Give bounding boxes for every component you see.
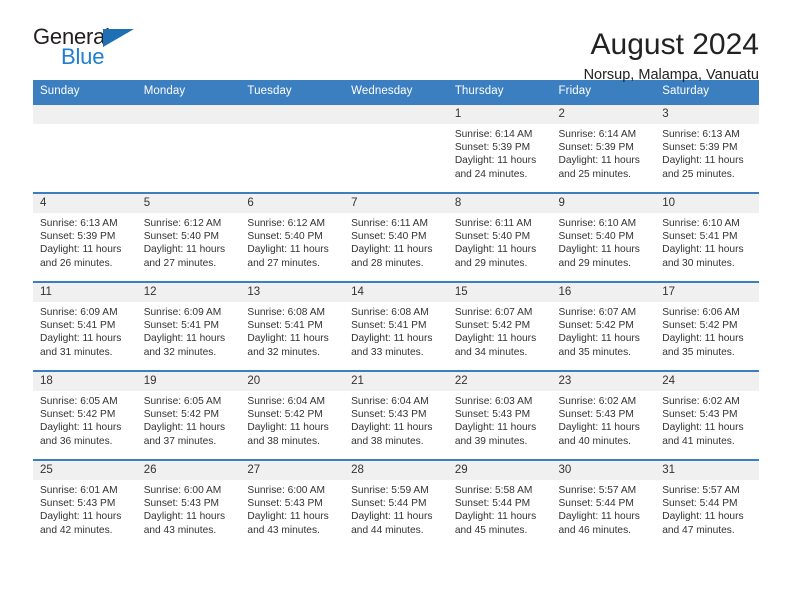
sunrise-text: Sunrise: 6:00 AM: [247, 484, 338, 497]
day-details: Sunrise: 5:58 AMSunset: 5:44 PMDaylight:…: [448, 480, 552, 537]
sunset-text: Sunset: 5:43 PM: [144, 497, 235, 510]
daylight-text-line2: and 29 minutes.: [559, 257, 650, 270]
sunrise-text: Sunrise: 5:58 AM: [455, 484, 546, 497]
daylight-text-line2: and 28 minutes.: [351, 257, 442, 270]
day-number: 20: [240, 372, 344, 391]
day-number: [344, 105, 448, 124]
sunset-text: Sunset: 5:41 PM: [351, 319, 442, 332]
daylight-text-line2: and 44 minutes.: [351, 524, 442, 537]
calendar-day-cell[interactable]: 11Sunrise: 6:09 AMSunset: 5:41 PMDayligh…: [33, 282, 137, 371]
day-number: 27: [240, 461, 344, 480]
day-details: Sunrise: 6:05 AMSunset: 5:42 PMDaylight:…: [137, 391, 241, 448]
day-details: Sunrise: 6:11 AMSunset: 5:40 PMDaylight:…: [344, 213, 448, 270]
daylight-text-line2: and 38 minutes.: [351, 435, 442, 448]
calendar-day-cell[interactable]: 4Sunrise: 6:13 AMSunset: 5:39 PMDaylight…: [33, 193, 137, 282]
calendar-cell-empty: [33, 104, 137, 193]
daylight-text-line1: Daylight: 11 hours: [559, 332, 650, 345]
weekday-header-wednesday: Wednesday: [344, 80, 448, 104]
sunrise-text: Sunrise: 6:08 AM: [247, 306, 338, 319]
calendar-week-row: 4Sunrise: 6:13 AMSunset: 5:39 PMDaylight…: [33, 193, 759, 282]
calendar-week-row: 25Sunrise: 6:01 AMSunset: 5:43 PMDayligh…: [33, 460, 759, 549]
daylight-text-line1: Daylight: 11 hours: [455, 510, 546, 523]
day-details: Sunrise: 6:00 AMSunset: 5:43 PMDaylight:…: [240, 480, 344, 537]
daylight-text-line1: Daylight: 11 hours: [247, 421, 338, 434]
sunrise-text: Sunrise: 6:09 AM: [144, 306, 235, 319]
daylight-text-line2: and 25 minutes.: [559, 168, 650, 181]
sunrise-text: Sunrise: 6:14 AM: [455, 128, 546, 141]
calendar-week-row: 11Sunrise: 6:09 AMSunset: 5:41 PMDayligh…: [33, 282, 759, 371]
daylight-text-line1: Daylight: 11 hours: [40, 243, 131, 256]
sunset-text: Sunset: 5:40 PM: [144, 230, 235, 243]
day-details: Sunrise: 6:09 AMSunset: 5:41 PMDaylight:…: [137, 302, 241, 359]
calendar-day-cell[interactable]: 17Sunrise: 6:06 AMSunset: 5:42 PMDayligh…: [655, 282, 759, 371]
day-details: Sunrise: 6:09 AMSunset: 5:41 PMDaylight:…: [33, 302, 137, 359]
day-number: [137, 105, 241, 124]
calendar-day-cell[interactable]: 15Sunrise: 6:07 AMSunset: 5:42 PMDayligh…: [448, 282, 552, 371]
calendar-day-cell[interactable]: 1Sunrise: 6:14 AMSunset: 5:39 PMDaylight…: [448, 104, 552, 193]
day-details: Sunrise: 5:57 AMSunset: 5:44 PMDaylight:…: [655, 480, 759, 537]
daylight-text-line1: Daylight: 11 hours: [662, 243, 753, 256]
day-number: 9: [552, 194, 656, 213]
day-number: 4: [33, 194, 137, 213]
daylight-text-line2: and 46 minutes.: [559, 524, 650, 537]
day-details: Sunrise: 6:07 AMSunset: 5:42 PMDaylight:…: [448, 302, 552, 359]
calendar-day-cell[interactable]: 29Sunrise: 5:58 AMSunset: 5:44 PMDayligh…: [448, 460, 552, 549]
day-number: 11: [33, 283, 137, 302]
daylight-text-line1: Daylight: 11 hours: [455, 154, 546, 167]
sunrise-text: Sunrise: 5:57 AM: [559, 484, 650, 497]
day-number: 24: [655, 372, 759, 391]
sunset-text: Sunset: 5:44 PM: [351, 497, 442, 510]
calendar-day-cell[interactable]: 10Sunrise: 6:10 AMSunset: 5:41 PMDayligh…: [655, 193, 759, 282]
calendar-day-cell[interactable]: 18Sunrise: 6:05 AMSunset: 5:42 PMDayligh…: [33, 371, 137, 460]
daylight-text-line1: Daylight: 11 hours: [144, 421, 235, 434]
daylight-text-line1: Daylight: 11 hours: [662, 332, 753, 345]
daylight-text-line1: Daylight: 11 hours: [351, 510, 442, 523]
daylight-text-line1: Daylight: 11 hours: [455, 332, 546, 345]
general-blue-logo[interactable]: General Blue: [33, 26, 153, 74]
sunrise-text: Sunrise: 6:09 AM: [40, 306, 131, 319]
sunrise-text: Sunrise: 6:14 AM: [559, 128, 650, 141]
sunrise-text: Sunrise: 6:04 AM: [247, 395, 338, 408]
daylight-text-line2: and 34 minutes.: [455, 346, 546, 359]
day-number: 30: [552, 461, 656, 480]
daylight-text-line2: and 30 minutes.: [662, 257, 753, 270]
day-number: 18: [33, 372, 137, 391]
daylight-text-line1: Daylight: 11 hours: [455, 243, 546, 256]
sunset-text: Sunset: 5:41 PM: [40, 319, 131, 332]
sunset-text: Sunset: 5:43 PM: [559, 408, 650, 421]
daylight-text-line1: Daylight: 11 hours: [559, 421, 650, 434]
daylight-text-line2: and 31 minutes.: [40, 346, 131, 359]
sunset-text: Sunset: 5:39 PM: [455, 141, 546, 154]
daylight-text-line1: Daylight: 11 hours: [559, 243, 650, 256]
day-details: Sunrise: 6:12 AMSunset: 5:40 PMDaylight:…: [137, 213, 241, 270]
calendar-table: Sunday Monday Tuesday Wednesday Thursday…: [33, 80, 759, 549]
day-details: Sunrise: 5:57 AMSunset: 5:44 PMDaylight:…: [552, 480, 656, 537]
daylight-text-line1: Daylight: 11 hours: [144, 243, 235, 256]
day-details: Sunrise: 6:13 AMSunset: 5:39 PMDaylight:…: [33, 213, 137, 270]
daylight-text-line2: and 27 minutes.: [247, 257, 338, 270]
daylight-text-line2: and 42 minutes.: [40, 524, 131, 537]
day-number: 14: [344, 283, 448, 302]
calendar-body: 1Sunrise: 6:14 AMSunset: 5:39 PMDaylight…: [33, 104, 759, 549]
calendar-week-row: 18Sunrise: 6:05 AMSunset: 5:42 PMDayligh…: [33, 371, 759, 460]
calendar-day-cell[interactable]: 31Sunrise: 5:57 AMSunset: 5:44 PMDayligh…: [655, 460, 759, 549]
daylight-text-line2: and 24 minutes.: [455, 168, 546, 181]
day-details: Sunrise: 6:04 AMSunset: 5:43 PMDaylight:…: [344, 391, 448, 448]
day-number: 23: [552, 372, 656, 391]
day-number: 22: [448, 372, 552, 391]
daylight-text-line2: and 27 minutes.: [144, 257, 235, 270]
day-number: 19: [137, 372, 241, 391]
calendar-day-cell[interactable]: 13Sunrise: 6:08 AMSunset: 5:41 PMDayligh…: [240, 282, 344, 371]
day-number: 15: [448, 283, 552, 302]
day-number: 31: [655, 461, 759, 480]
calendar-page: General Blue August 2024 Norsup, Malampa…: [0, 0, 792, 612]
daylight-text-line2: and 43 minutes.: [247, 524, 338, 537]
calendar-day-cell[interactable]: 23Sunrise: 6:02 AMSunset: 5:43 PMDayligh…: [552, 371, 656, 460]
daylight-text-line2: and 29 minutes.: [455, 257, 546, 270]
daylight-text-line1: Daylight: 11 hours: [247, 510, 338, 523]
day-number: 8: [448, 194, 552, 213]
daylight-text-line2: and 32 minutes.: [144, 346, 235, 359]
calendar-cell-empty: [240, 104, 344, 193]
daylight-text-line2: and 38 minutes.: [247, 435, 338, 448]
sunrise-text: Sunrise: 6:06 AM: [662, 306, 753, 319]
sunset-text: Sunset: 5:44 PM: [455, 497, 546, 510]
sunset-text: Sunset: 5:41 PM: [662, 230, 753, 243]
sunrise-text: Sunrise: 6:05 AM: [40, 395, 131, 408]
sunset-text: Sunset: 5:43 PM: [662, 408, 753, 421]
calendar-day-cell[interactable]: 24Sunrise: 6:02 AMSunset: 5:43 PMDayligh…: [655, 371, 759, 460]
calendar-week-row: 1Sunrise: 6:14 AMSunset: 5:39 PMDaylight…: [33, 104, 759, 193]
weekday-header-sunday: Sunday: [33, 80, 137, 104]
sunrise-text: Sunrise: 6:03 AM: [455, 395, 546, 408]
page-title: August 2024: [584, 28, 759, 61]
daylight-text-line2: and 39 minutes.: [455, 435, 546, 448]
day-details: Sunrise: 6:14 AMSunset: 5:39 PMDaylight:…: [448, 124, 552, 181]
sunset-text: Sunset: 5:39 PM: [559, 141, 650, 154]
weekday-header-monday: Monday: [137, 80, 241, 104]
calendar-day-cell[interactable]: 22Sunrise: 6:03 AMSunset: 5:43 PMDayligh…: [448, 371, 552, 460]
sunset-text: Sunset: 5:42 PM: [662, 319, 753, 332]
daylight-text-line1: Daylight: 11 hours: [40, 421, 131, 434]
calendar-day-cell[interactable]: 14Sunrise: 6:08 AMSunset: 5:41 PMDayligh…: [344, 282, 448, 371]
sunrise-text: Sunrise: 6:12 AM: [144, 217, 235, 230]
calendar-day-cell[interactable]: 30Sunrise: 5:57 AMSunset: 5:44 PMDayligh…: [552, 460, 656, 549]
calendar-day-cell[interactable]: 9Sunrise: 6:10 AMSunset: 5:40 PMDaylight…: [552, 193, 656, 282]
sunset-text: Sunset: 5:40 PM: [559, 230, 650, 243]
day-details: Sunrise: 6:14 AMSunset: 5:39 PMDaylight:…: [552, 124, 656, 181]
daylight-text-line2: and 26 minutes.: [40, 257, 131, 270]
daylight-text-line2: and 45 minutes.: [455, 524, 546, 537]
daylight-text-line1: Daylight: 11 hours: [559, 154, 650, 167]
sunset-text: Sunset: 5:42 PM: [144, 408, 235, 421]
weekday-header-tuesday: Tuesday: [240, 80, 344, 104]
sunrise-text: Sunrise: 6:00 AM: [144, 484, 235, 497]
sunset-text: Sunset: 5:42 PM: [40, 408, 131, 421]
sunrise-text: Sunrise: 6:10 AM: [559, 217, 650, 230]
calendar-day-cell[interactable]: 7Sunrise: 6:11 AMSunset: 5:40 PMDaylight…: [344, 193, 448, 282]
day-number: 13: [240, 283, 344, 302]
day-details: Sunrise: 6:11 AMSunset: 5:40 PMDaylight:…: [448, 213, 552, 270]
calendar-day-cell[interactable]: 8Sunrise: 6:11 AMSunset: 5:40 PMDaylight…: [448, 193, 552, 282]
daylight-text-line1: Daylight: 11 hours: [559, 510, 650, 523]
day-number: 1: [448, 105, 552, 124]
daylight-text-line1: Daylight: 11 hours: [351, 332, 442, 345]
day-number: 21: [344, 372, 448, 391]
sunset-text: Sunset: 5:40 PM: [455, 230, 546, 243]
day-number: 3: [655, 105, 759, 124]
calendar-day-cell[interactable]: 3Sunrise: 6:13 AMSunset: 5:39 PMDaylight…: [655, 104, 759, 193]
calendar-day-cell[interactable]: 20Sunrise: 6:04 AMSunset: 5:42 PMDayligh…: [240, 371, 344, 460]
calendar-day-cell[interactable]: 21Sunrise: 6:04 AMSunset: 5:43 PMDayligh…: [344, 371, 448, 460]
day-details: Sunrise: 6:07 AMSunset: 5:42 PMDaylight:…: [552, 302, 656, 359]
calendar-cell-empty: [344, 104, 448, 193]
day-number: [33, 105, 137, 124]
calendar-day-cell[interactable]: 28Sunrise: 5:59 AMSunset: 5:44 PMDayligh…: [344, 460, 448, 549]
daylight-text-line1: Daylight: 11 hours: [662, 510, 753, 523]
day-details: Sunrise: 6:08 AMSunset: 5:41 PMDaylight:…: [344, 302, 448, 359]
sunrise-text: Sunrise: 6:04 AM: [351, 395, 442, 408]
day-details: Sunrise: 6:05 AMSunset: 5:42 PMDaylight:…: [33, 391, 137, 448]
sunset-text: Sunset: 5:43 PM: [455, 408, 546, 421]
day-details: Sunrise: 6:02 AMSunset: 5:43 PMDaylight:…: [552, 391, 656, 448]
calendar-day-cell[interactable]: 25Sunrise: 6:01 AMSunset: 5:43 PMDayligh…: [33, 460, 137, 549]
day-details: Sunrise: 6:01 AMSunset: 5:43 PMDaylight:…: [33, 480, 137, 537]
calendar-day-cell[interactable]: 27Sunrise: 6:00 AMSunset: 5:43 PMDayligh…: [240, 460, 344, 549]
sunset-text: Sunset: 5:43 PM: [351, 408, 442, 421]
sunset-text: Sunset: 5:41 PM: [247, 319, 338, 332]
day-details: Sunrise: 6:06 AMSunset: 5:42 PMDaylight:…: [655, 302, 759, 359]
sunset-text: Sunset: 5:42 PM: [247, 408, 338, 421]
day-details: Sunrise: 6:03 AMSunset: 5:43 PMDaylight:…: [448, 391, 552, 448]
daylight-text-line1: Daylight: 11 hours: [662, 421, 753, 434]
sunset-text: Sunset: 5:41 PM: [144, 319, 235, 332]
calendar-day-cell[interactable]: 16Sunrise: 6:07 AMSunset: 5:42 PMDayligh…: [552, 282, 656, 371]
sunset-text: Sunset: 5:44 PM: [559, 497, 650, 510]
day-number: 12: [137, 283, 241, 302]
location-subtitle: Norsup, Malampa, Vanuatu: [584, 68, 759, 84]
daylight-text-line1: Daylight: 11 hours: [247, 243, 338, 256]
sunrise-text: Sunrise: 6:05 AM: [144, 395, 235, 408]
day-number: [240, 105, 344, 124]
daylight-text-line2: and 43 minutes.: [144, 524, 235, 537]
day-number: 29: [448, 461, 552, 480]
day-number: 16: [552, 283, 656, 302]
day-number: 28: [344, 461, 448, 480]
calendar-day-cell[interactable]: 2Sunrise: 6:14 AMSunset: 5:39 PMDaylight…: [552, 104, 656, 193]
sunrise-text: Sunrise: 6:10 AM: [662, 217, 753, 230]
sunrise-text: Sunrise: 6:02 AM: [559, 395, 650, 408]
daylight-text-line1: Daylight: 11 hours: [40, 332, 131, 345]
sunrise-text: Sunrise: 6:12 AM: [247, 217, 338, 230]
day-details: Sunrise: 6:10 AMSunset: 5:41 PMDaylight:…: [655, 213, 759, 270]
daylight-text-line2: and 35 minutes.: [559, 346, 650, 359]
day-details: Sunrise: 6:04 AMSunset: 5:42 PMDaylight:…: [240, 391, 344, 448]
page-header: General Blue August 2024 Norsup, Malampa…: [33, 0, 759, 74]
daylight-text-line2: and 32 minutes.: [247, 346, 338, 359]
sunrise-text: Sunrise: 6:13 AM: [662, 128, 753, 141]
logo-triangle-icon: [103, 29, 134, 47]
sunrise-text: Sunrise: 6:01 AM: [40, 484, 131, 497]
daylight-text-line2: and 37 minutes.: [144, 435, 235, 448]
sunset-text: Sunset: 5:43 PM: [40, 497, 131, 510]
daylight-text-line1: Daylight: 11 hours: [40, 510, 131, 523]
sunset-text: Sunset: 5:44 PM: [662, 497, 753, 510]
sunrise-text: Sunrise: 6:02 AM: [662, 395, 753, 408]
day-number: 10: [655, 194, 759, 213]
sunrise-text: Sunrise: 6:11 AM: [351, 217, 442, 230]
calendar-day-cell[interactable]: 6Sunrise: 6:12 AMSunset: 5:40 PMDaylight…: [240, 193, 344, 282]
calendar-day-cell[interactable]: 12Sunrise: 6:09 AMSunset: 5:41 PMDayligh…: [137, 282, 241, 371]
sunrise-text: Sunrise: 6:13 AM: [40, 217, 131, 230]
day-details: Sunrise: 6:10 AMSunset: 5:40 PMDaylight:…: [552, 213, 656, 270]
daylight-text-line2: and 40 minutes.: [559, 435, 650, 448]
sunrise-text: Sunrise: 5:59 AM: [351, 484, 442, 497]
day-details: Sunrise: 6:02 AMSunset: 5:43 PMDaylight:…: [655, 391, 759, 448]
daylight-text-line2: and 33 minutes.: [351, 346, 442, 359]
daylight-text-line1: Daylight: 11 hours: [144, 510, 235, 523]
sunset-text: Sunset: 5:40 PM: [351, 230, 442, 243]
sunrise-text: Sunrise: 6:07 AM: [455, 306, 546, 319]
day-number: 5: [137, 194, 241, 213]
daylight-text-line2: and 36 minutes.: [40, 435, 131, 448]
sunset-text: Sunset: 5:43 PM: [247, 497, 338, 510]
day-details: Sunrise: 5:59 AMSunset: 5:44 PMDaylight:…: [344, 480, 448, 537]
calendar-cell-empty: [137, 104, 241, 193]
sunset-text: Sunset: 5:40 PM: [247, 230, 338, 243]
sunset-text: Sunset: 5:42 PM: [559, 319, 650, 332]
logo-text-blue: Blue: [61, 46, 104, 68]
daylight-text-line1: Daylight: 11 hours: [351, 421, 442, 434]
sunrise-text: Sunrise: 6:08 AM: [351, 306, 442, 319]
sunrise-text: Sunrise: 6:07 AM: [559, 306, 650, 319]
calendar-day-cell[interactable]: 19Sunrise: 6:05 AMSunset: 5:42 PMDayligh…: [137, 371, 241, 460]
sunset-text: Sunset: 5:42 PM: [455, 319, 546, 332]
day-number: 25: [33, 461, 137, 480]
daylight-text-line1: Daylight: 11 hours: [144, 332, 235, 345]
day-number: 17: [655, 283, 759, 302]
daylight-text-line2: and 25 minutes.: [662, 168, 753, 181]
sunset-text: Sunset: 5:39 PM: [40, 230, 131, 243]
day-details: Sunrise: 6:12 AMSunset: 5:40 PMDaylight:…: [240, 213, 344, 270]
day-details: Sunrise: 6:00 AMSunset: 5:43 PMDaylight:…: [137, 480, 241, 537]
day-number: 26: [137, 461, 241, 480]
sunset-text: Sunset: 5:39 PM: [662, 141, 753, 154]
daylight-text-line2: and 41 minutes.: [662, 435, 753, 448]
sunrise-text: Sunrise: 5:57 AM: [662, 484, 753, 497]
weekday-header-thursday: Thursday: [448, 80, 552, 104]
calendar-day-cell[interactable]: 5Sunrise: 6:12 AMSunset: 5:40 PMDaylight…: [137, 193, 241, 282]
daylight-text-line1: Daylight: 11 hours: [247, 332, 338, 345]
day-number: 6: [240, 194, 344, 213]
daylight-text-line1: Daylight: 11 hours: [351, 243, 442, 256]
title-block: August 2024 Norsup, Malampa, Vanuatu: [584, 26, 759, 84]
daylight-text-line2: and 35 minutes.: [662, 346, 753, 359]
sunrise-text: Sunrise: 6:11 AM: [455, 217, 546, 230]
day-number: 7: [344, 194, 448, 213]
daylight-text-line2: and 47 minutes.: [662, 524, 753, 537]
day-number: 2: [552, 105, 656, 124]
day-details: Sunrise: 6:13 AMSunset: 5:39 PMDaylight:…: [655, 124, 759, 181]
day-details: Sunrise: 6:08 AMSunset: 5:41 PMDaylight:…: [240, 302, 344, 359]
daylight-text-line1: Daylight: 11 hours: [662, 154, 753, 167]
calendar-day-cell[interactable]: 26Sunrise: 6:00 AMSunset: 5:43 PMDayligh…: [137, 460, 241, 549]
daylight-text-line1: Daylight: 11 hours: [455, 421, 546, 434]
